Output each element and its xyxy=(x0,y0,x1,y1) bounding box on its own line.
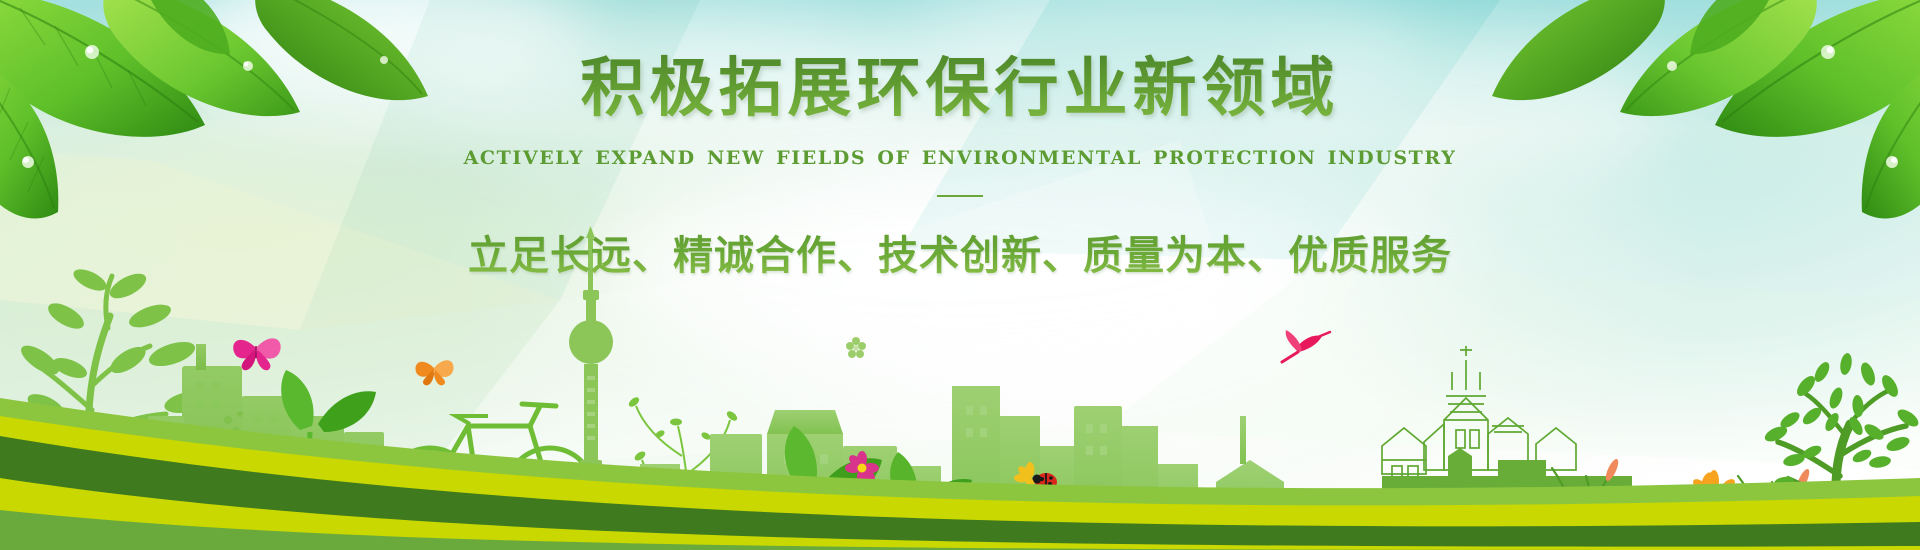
green-wave-bands xyxy=(0,350,1920,550)
headline-block: 积极拓展环保行业新领域 ACTIVELY EXPAND NEW FIELDS O… xyxy=(0,54,1920,281)
subtitle-english: ACTIVELY EXPAND NEW FIELDS OF ENVIRONMEN… xyxy=(0,147,1920,169)
environmental-banner: 积极拓展环保行业新领域 ACTIVELY EXPAND NEW FIELDS O… xyxy=(0,0,1920,550)
slogan-chinese: 立足长远、精诚合作、技术创新、质量为本、优质服务 xyxy=(0,223,1920,281)
divider-dash xyxy=(937,195,983,197)
page-title: 积极拓展环保行业新领域 xyxy=(0,54,1920,123)
